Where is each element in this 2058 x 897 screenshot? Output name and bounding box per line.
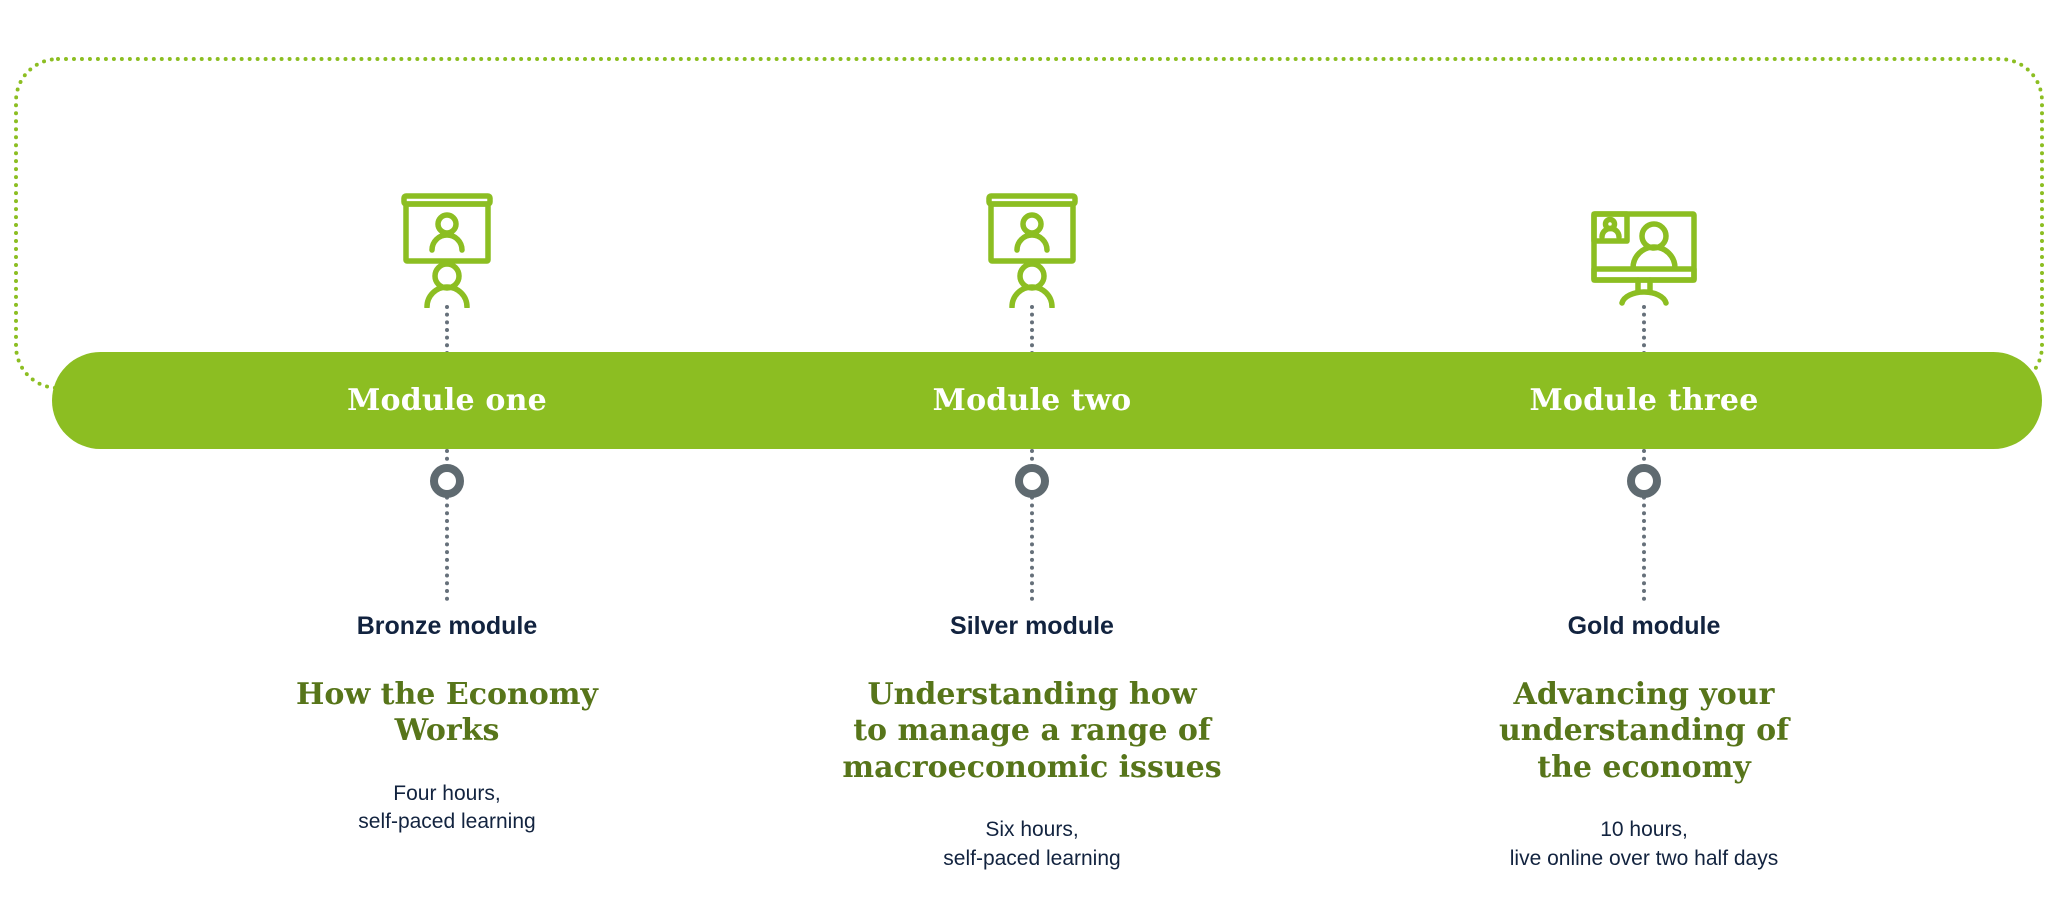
course-title-line: macroeconomic issues: [842, 750, 1221, 785]
course-title-line: Works: [395, 713, 500, 748]
presentation-board-with-presenter-icon: [394, 192, 500, 313]
connector-icon-to-bar-3: [1642, 305, 1646, 355]
duration-line: Four hours,: [393, 782, 500, 805]
milestone-ring-marker-1: [430, 464, 464, 498]
duration-gold: 10 hours, live online over two half days: [1434, 816, 1854, 873]
video-call-monitor-icon: [1588, 210, 1700, 311]
milestone-ring-marker-3: [1627, 464, 1661, 498]
duration-line: Six hours,: [985, 818, 1078, 841]
duration-line: self-paced learning: [943, 847, 1120, 870]
duration-line: live online over two half days: [1510, 847, 1778, 870]
tier-label-gold: Gold module: [1434, 613, 1854, 641]
course-title-line: the economy: [1537, 750, 1751, 785]
tier-label-bronze: Bronze module: [247, 613, 647, 641]
duration-silver: Six hours, self-paced learning: [802, 816, 1262, 873]
module-card-bronze: Bronze module How the Economy Works Four…: [247, 613, 647, 836]
bar-label-module-one[interactable]: Module one: [347, 352, 547, 449]
course-title-bronze: How the Economy Works: [247, 677, 647, 750]
presentation-board-with-presenter-icon: [979, 192, 1085, 313]
course-title-silver: Understanding how to manage a range of m…: [802, 677, 1262, 787]
course-title-line: to manage a range of: [853, 713, 1211, 748]
milestone-ring-marker-2: [1015, 464, 1049, 498]
duration-bronze: Four hours, self-paced learning: [247, 780, 647, 837]
tier-label-silver: Silver module: [802, 613, 1262, 641]
module-card-silver: Silver module Understanding how to manag…: [802, 613, 1262, 873]
course-title-gold: Advancing your understanding of the econ…: [1434, 677, 1854, 787]
bar-label-module-two[interactable]: Module two: [933, 352, 1132, 449]
bar-label-module-three[interactable]: Module three: [1530, 352, 1759, 449]
course-title-line: How the Economy: [296, 677, 598, 712]
module-card-gold: Gold module Advancing your understanding…: [1434, 613, 1854, 873]
course-title-line: Understanding how: [867, 677, 1196, 712]
course-title-line: understanding of: [1499, 713, 1789, 748]
infographic-canvas: Module one Module two Module three Bronz…: [0, 0, 2058, 897]
duration-line: self-paced learning: [358, 810, 535, 833]
course-title-line: Advancing your: [1514, 677, 1775, 712]
duration-line: 10 hours,: [1600, 818, 1688, 841]
